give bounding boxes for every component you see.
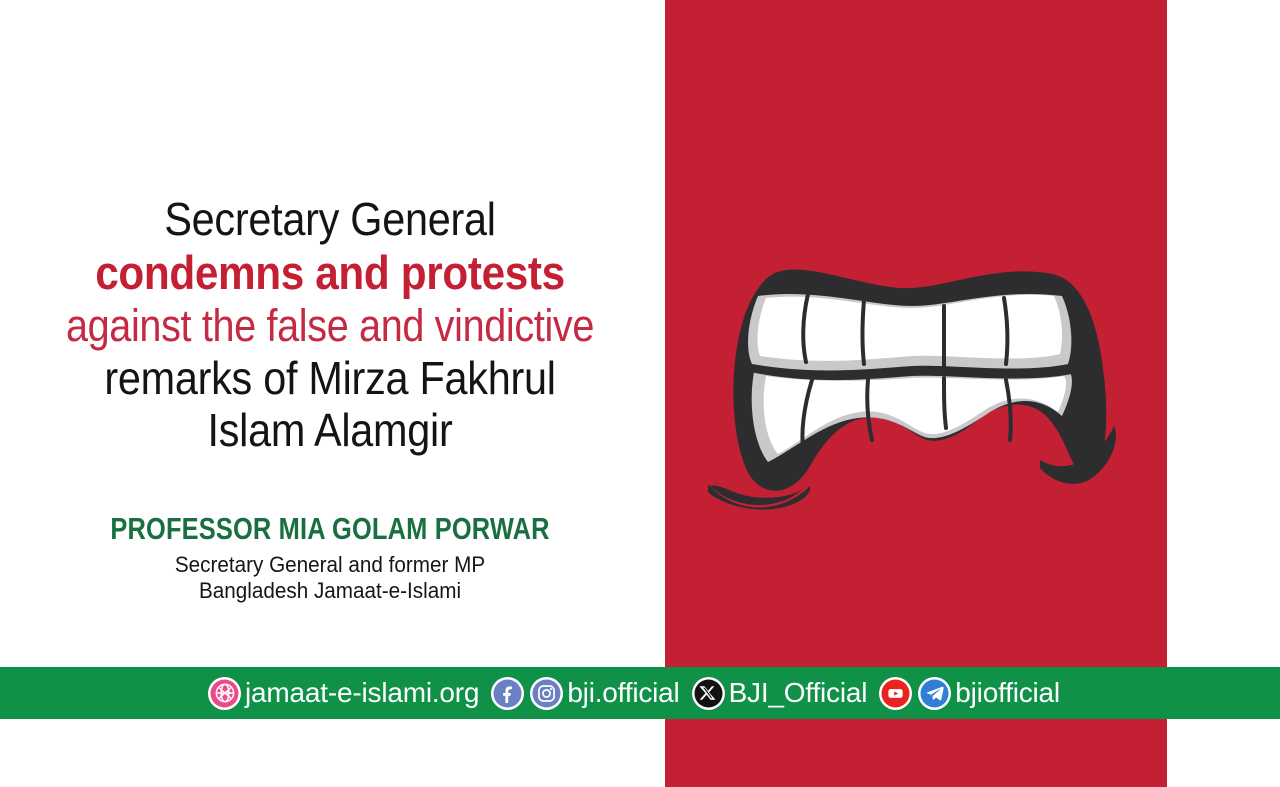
social-footer-bar: jamaat-e-islami.org (0, 667, 1280, 719)
attribution-organization: Bangladesh Jamaat-e-Islami (20, 578, 640, 603)
attribution-block: PROFESSOR MIA GOLAM PORWAR Secretary Gen… (0, 512, 660, 603)
social-label-x-twitter[interactable]: BJI_Official (729, 679, 868, 707)
social-label-instagram[interactable]: bji.official (567, 679, 679, 707)
x-twitter-icon[interactable] (692, 677, 725, 710)
facebook-icon[interactable] (491, 677, 524, 710)
social-links-row: jamaat-e-islami.org (208, 667, 1072, 719)
social-link-website[interactable]: jamaat-e-islami.org (208, 667, 491, 719)
social-link-instagram[interactable]: bji.official (530, 667, 691, 719)
attribution-role: Secretary General and former MP (20, 552, 640, 577)
instagram-icon[interactable] (530, 677, 563, 710)
statement-line-3: against the false and vindictive (40, 303, 621, 349)
social-link-youtube[interactable] (879, 667, 918, 719)
social-link-facebook[interactable] (491, 667, 530, 719)
statement-line-5: Islam Alamgir (33, 407, 627, 454)
social-link-telegram[interactable]: bjiofficial (918, 667, 1072, 719)
youtube-icon[interactable] (879, 677, 912, 710)
statement-card: Secretary General condemns and protests … (0, 0, 1280, 787)
social-label-telegram[interactable]: bjiofficial (955, 679, 1060, 707)
statement-line-1: Secretary General (33, 196, 627, 243)
statement-line-2-emphasis: condemns and protests (33, 249, 627, 297)
statement-line-4: remarks of Mirza Fakhrul (33, 355, 627, 402)
website-globe-icon[interactable] (208, 677, 241, 710)
social-link-x-twitter[interactable]: BJI_Official (692, 667, 880, 719)
social-label-website[interactable]: jamaat-e-islami.org (245, 679, 479, 707)
telegram-icon[interactable] (918, 677, 951, 710)
attribution-name: PROFESSOR MIA GOLAM PORWAR (59, 512, 600, 545)
angry-gritted-teeth-mouth-icon (700, 248, 1124, 532)
statement-text-block: Secretary General condemns and protests … (0, 196, 660, 454)
